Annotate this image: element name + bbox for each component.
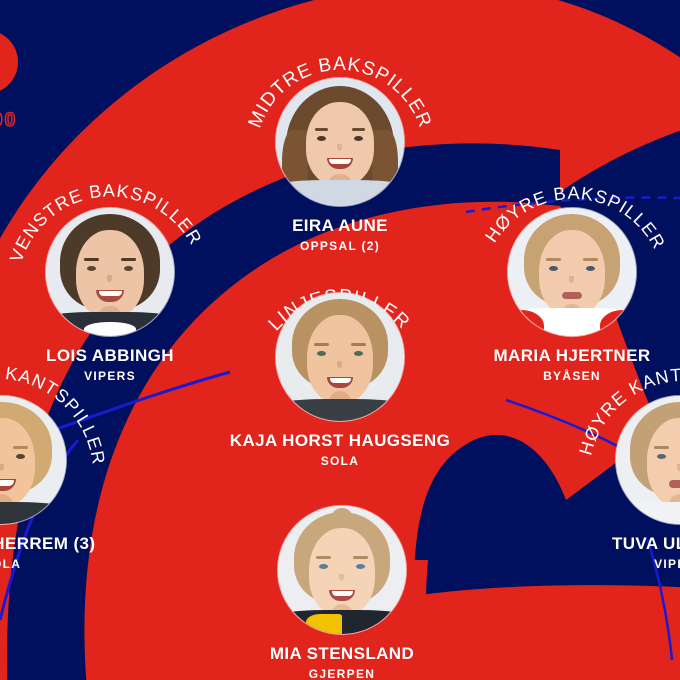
portrait-eira-aune <box>276 78 404 206</box>
portrait-lois-abbingh <box>46 208 174 336</box>
player-card-hoyre-kantspiller[interactable]: HØYRE KANTSPILLER TUVA <box>560 340 680 571</box>
player-card-venstre-kantspiller[interactable]: VENSTRE KANTSPILLER <box>0 340 122 571</box>
player-photo <box>616 396 680 524</box>
player-card-linjespiller[interactable]: LINJESPILLER <box>220 237 460 468</box>
player-photo <box>278 506 406 634</box>
player-photo <box>508 208 636 336</box>
player-photo <box>276 78 404 206</box>
lineup-graphic: 00 MIDTRE BAKSPILLER <box>0 0 680 680</box>
portrait-mia-stensland <box>278 506 406 634</box>
player-card-midtre-bakspiller[interactable]: MIDTRE BAKSPILLER <box>220 22 460 253</box>
avatar-wrap: MÅLVAKT <box>222 450 462 680</box>
player-photo <box>46 208 174 336</box>
portrait-camilla-herrem <box>0 396 66 524</box>
portrait-tuva-ulsaker <box>616 396 680 524</box>
player-photo <box>0 396 66 524</box>
portrait-maria-hjertner <box>508 208 636 336</box>
avatar-wrap: VENSTRE KANTSPILLER <box>0 340 122 580</box>
player-photo <box>276 293 404 421</box>
avatar-wrap: MIDTRE BAKSPILLER <box>220 22 460 262</box>
player-card-malvakt[interactable]: MÅLVAKT <box>222 450 462 680</box>
portrait-kaja-horst-haugseng <box>276 293 404 421</box>
avatar-wrap: HØYRE KANTSPILLER <box>560 340 680 580</box>
logo-number: 00 <box>0 110 17 132</box>
avatar-wrap: LINJESPILLER <box>220 237 460 477</box>
